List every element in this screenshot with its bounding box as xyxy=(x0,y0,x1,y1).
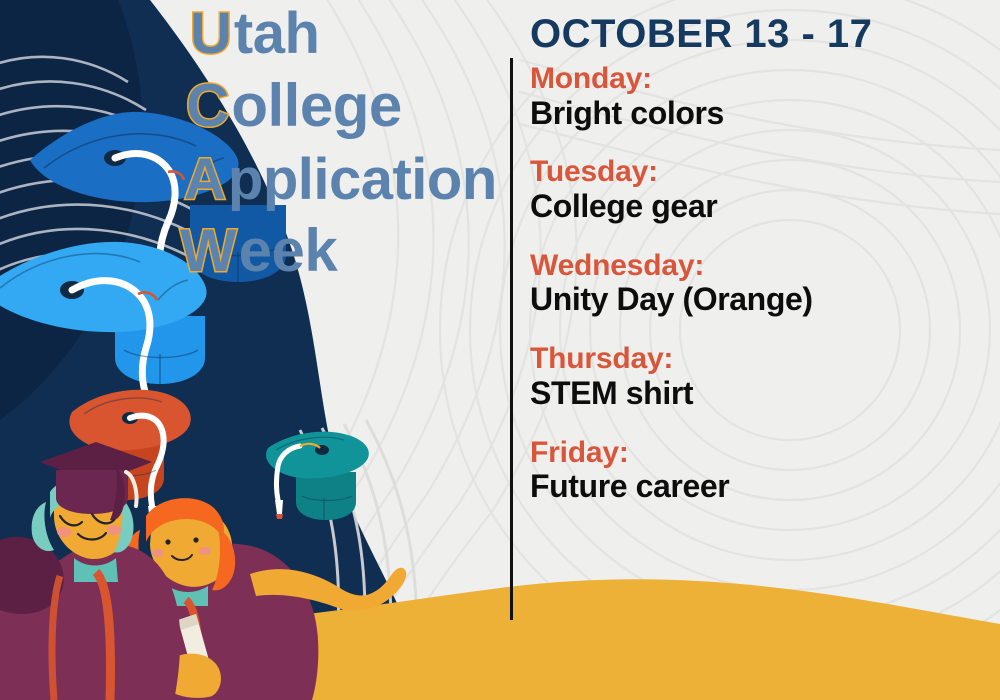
title-line-week: Week xyxy=(180,222,520,281)
title-rest-week: eek xyxy=(239,217,338,284)
day-theme-monday: Bright colors xyxy=(530,96,990,132)
day-label-thursday: Thursday: xyxy=(530,342,990,376)
date-range-header: OCTOBER 13 - 17 xyxy=(530,12,872,57)
title-line-utah: Utah xyxy=(190,6,520,63)
schedule-entry-friday: Friday: Future career xyxy=(530,436,990,505)
schedule-entry-thursday: Thursday: STEM shirt xyxy=(530,342,990,411)
title-rest-college: ollege xyxy=(231,72,401,139)
poster-canvas: Utah College Application Week OCTOBER 13… xyxy=(0,0,1000,700)
title-rest-application: pplication xyxy=(228,147,497,212)
day-label-friday: Friday: xyxy=(530,436,990,470)
schedule-entry-wednesday: Wednesday: Unity Day (Orange) xyxy=(530,249,990,318)
schedule-list: Monday: Bright colors Tuesday: College g… xyxy=(530,62,990,529)
title-line-application: Application xyxy=(184,152,520,209)
day-theme-tuesday: College gear xyxy=(530,189,990,225)
cap-teal xyxy=(266,432,369,520)
day-label-tuesday: Tuesday: xyxy=(530,155,990,189)
title-rest-utah: tah xyxy=(234,1,320,66)
poster-title: Utah College Application Week xyxy=(180,6,520,281)
title-cap-w: W xyxy=(180,217,239,284)
vertical-divider xyxy=(510,58,513,620)
title-cap-u: U xyxy=(190,1,234,66)
schedule-entry-tuesday: Tuesday: College gear xyxy=(530,155,990,224)
day-theme-thursday: STEM shirt xyxy=(530,376,990,412)
day-theme-friday: Future career xyxy=(530,469,990,505)
schedule-panel: OCTOBER 13 - 17 Monday: Bright colors Tu… xyxy=(530,0,990,700)
day-theme-wednesday: Unity Day (Orange) xyxy=(530,282,990,318)
title-cap-c: C xyxy=(186,72,231,139)
title-cap-a: A xyxy=(184,147,228,212)
day-label-wednesday: Wednesday: xyxy=(530,249,990,283)
title-line-college: College xyxy=(186,77,520,136)
day-label-monday: Monday: xyxy=(530,62,990,96)
schedule-entry-monday: Monday: Bright colors xyxy=(530,62,990,131)
